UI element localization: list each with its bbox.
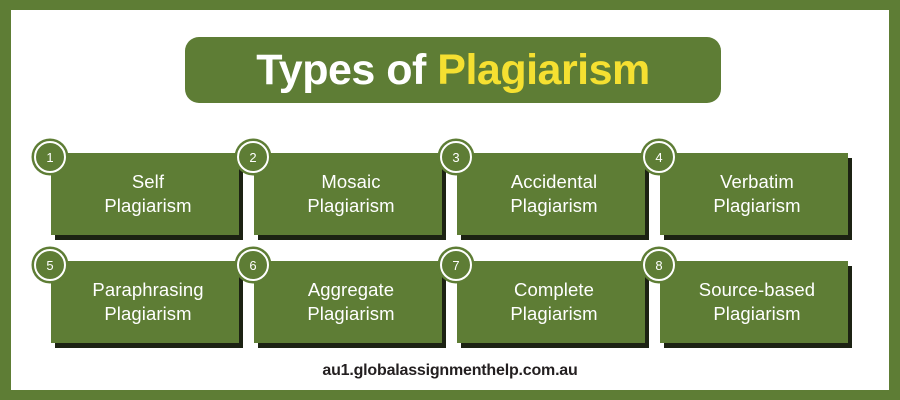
card-label: Self Plagiarism	[104, 170, 191, 219]
badge-number-2-label: 2	[249, 151, 256, 164]
infographic-canvas: Types of Plagiarism 1 Self Plagiarism 2 …	[11, 10, 889, 390]
badge-number-1: 1	[34, 141, 66, 173]
footer-website-url: au1.globalassignmenthelp.com.au	[11, 362, 889, 380]
card-self-plagiarism[interactable]: 1 Self Plagiarism	[51, 153, 239, 235]
card-aggregate-plagiarism[interactable]: 6 Aggregate Plagiarism	[254, 261, 442, 343]
badge-number-7-label: 7	[452, 259, 459, 272]
card-complete-plagiarism[interactable]: 7 Complete Plagiarism	[457, 261, 645, 343]
badge-number-4-label: 4	[655, 151, 662, 164]
card-mosaic-plagiarism[interactable]: 2 Mosaic Plagiarism	[254, 153, 442, 235]
badge-number-3: 3	[440, 141, 472, 173]
cards-row-1: 1 Self Plagiarism 2 Mosaic Plagiarism 3 …	[47, 141, 859, 245]
cards-row-2: 5 Paraphrasing Plagiarism 6 Aggregate Pl…	[47, 249, 859, 353]
badge-number-3-label: 3	[452, 151, 459, 164]
badge-number-6-label: 6	[249, 259, 256, 272]
page-title: Types of Plagiarism	[256, 49, 650, 92]
card-label: Source-based Plagiarism	[699, 278, 815, 327]
card-label: Aggregate Plagiarism	[307, 278, 394, 327]
badge-number-8-label: 8	[655, 259, 662, 272]
card-source-based-plagiarism[interactable]: 8 Source-based Plagiarism	[660, 261, 848, 343]
plagiarism-types-grid: 1 Self Plagiarism 2 Mosaic Plagiarism 3 …	[47, 141, 859, 357]
badge-number-6: 6	[237, 249, 269, 281]
badge-number-5: 5	[34, 249, 66, 281]
page-title-primary: Types of	[256, 46, 437, 94]
card-label: Mosaic Plagiarism	[307, 170, 394, 219]
card-paraphrasing-plagiarism[interactable]: 5 Paraphrasing Plagiarism	[51, 261, 239, 343]
card-label: Accidental Plagiarism	[510, 170, 597, 219]
badge-number-2: 2	[237, 141, 269, 173]
title-banner: Types of Plagiarism	[185, 37, 721, 103]
card-accidental-plagiarism[interactable]: 3 Accidental Plagiarism	[457, 153, 645, 235]
card-label: Paraphrasing Plagiarism	[92, 278, 203, 327]
card-label: Complete Plagiarism	[510, 278, 597, 327]
badge-number-1-label: 1	[46, 151, 53, 164]
badge-number-4: 4	[643, 141, 675, 173]
badge-number-7: 7	[440, 249, 472, 281]
page-title-accent: Plagiarism	[437, 46, 650, 94]
badge-number-5-label: 5	[46, 259, 53, 272]
badge-number-8: 8	[643, 249, 675, 281]
infographic-outer-frame: Types of Plagiarism 1 Self Plagiarism 2 …	[0, 0, 900, 400]
card-verbatim-plagiarism[interactable]: 4 Verbatim Plagiarism	[660, 153, 848, 235]
card-label: Verbatim Plagiarism	[713, 170, 800, 219]
